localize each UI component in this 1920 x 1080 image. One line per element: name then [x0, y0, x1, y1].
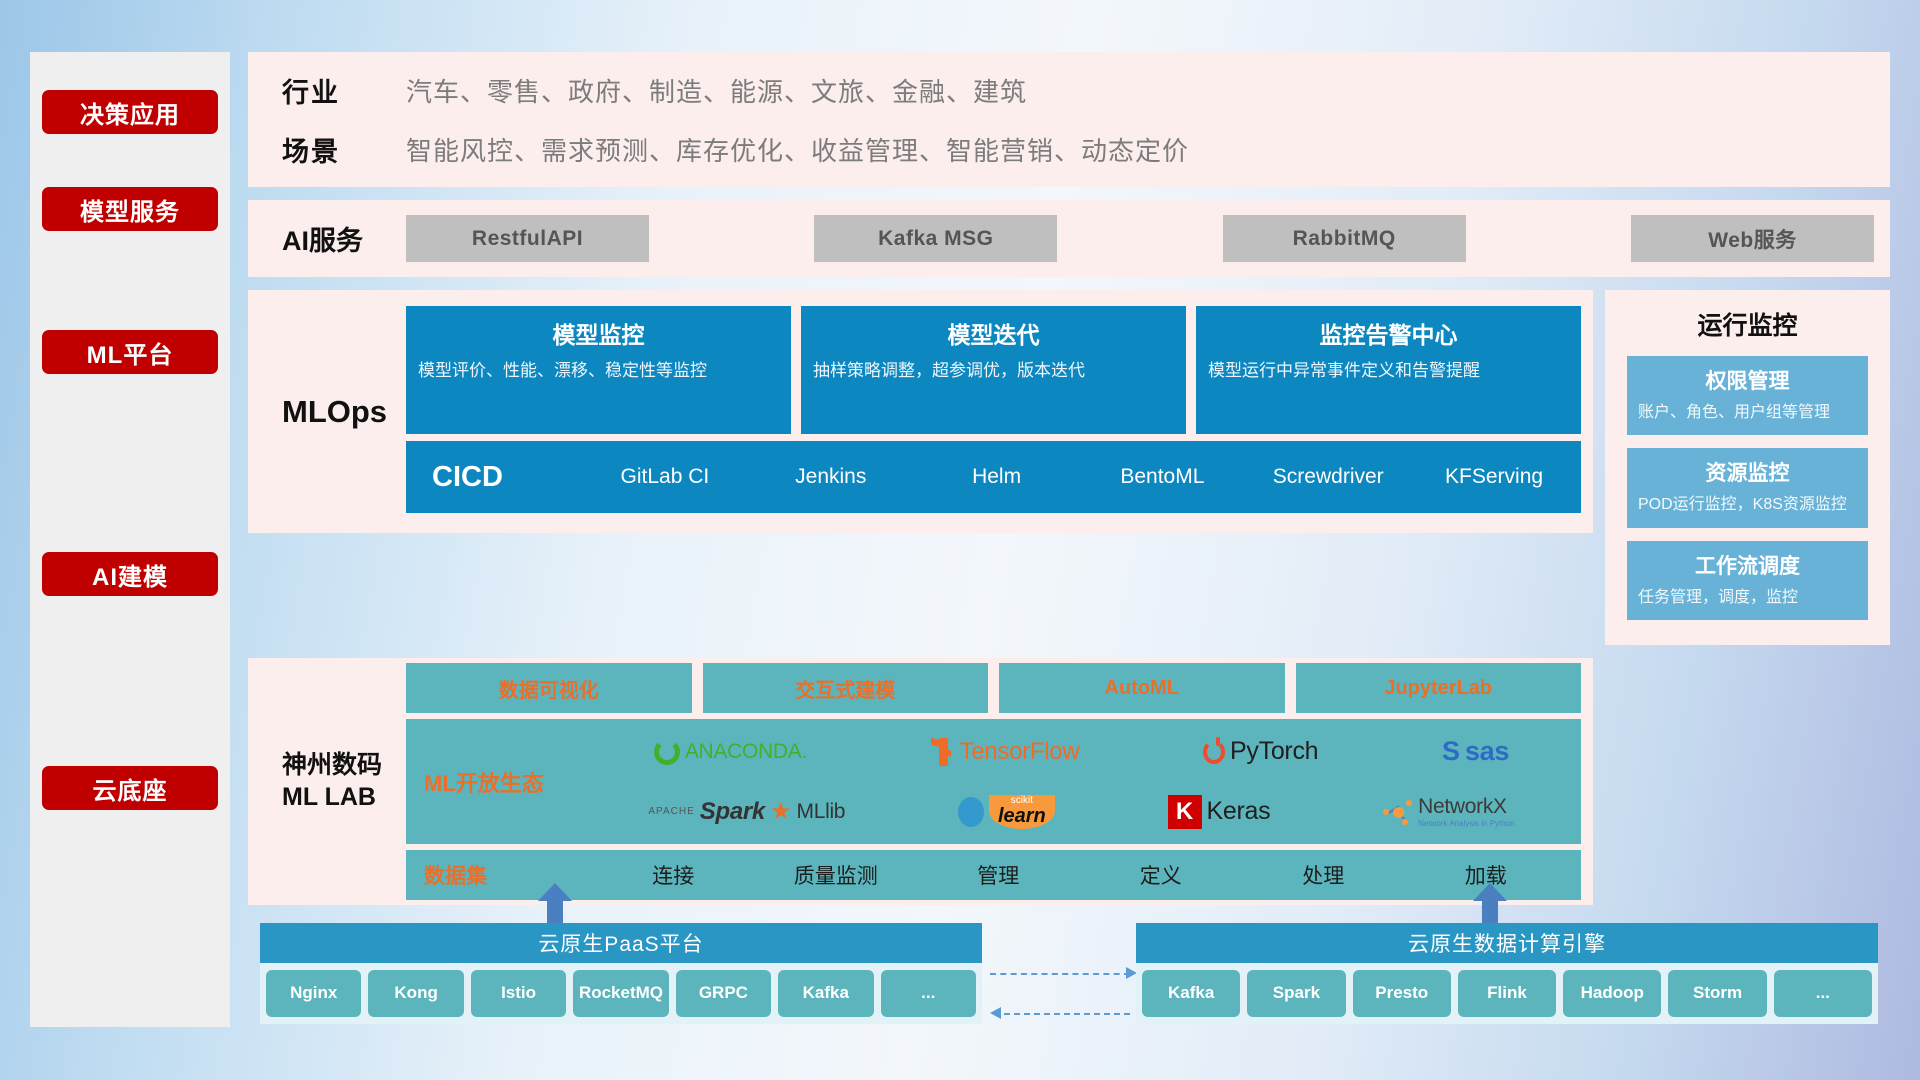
- monitor-card-resource[interactable]: 资源监控 POD运行监控，K8S资源监控: [1627, 448, 1868, 527]
- monitor-card-title: 资源监控: [1638, 457, 1857, 487]
- cicd-title: CICD: [432, 461, 582, 494]
- paas-chip-kong[interactable]: Kong: [368, 970, 463, 1017]
- data-chip-presto[interactable]: Presto: [1353, 970, 1451, 1017]
- data-chip-kafka[interactable]: Kafka: [1142, 970, 1240, 1017]
- spark-label: Spark: [700, 798, 765, 826]
- rail-chip-label: 云底座: [93, 771, 168, 806]
- data-chip-spark[interactable]: Spark: [1247, 970, 1345, 1017]
- tool-box-automl[interactable]: AutoML: [999, 663, 1285, 713]
- rail-chip-cloud-base[interactable]: 云底座: [42, 766, 218, 810]
- cicd-item-jenkins[interactable]: Jenkins: [748, 465, 914, 489]
- runtime-monitoring-column: 运行监控 权限管理 账户、角色、用户组等管理 资源监控 POD运行监控，K8S资…: [1605, 290, 1890, 645]
- dashed-connector-bottom: [1004, 1013, 1130, 1015]
- sas-logo: S sas: [1442, 736, 1509, 767]
- service-box-label: Web服务: [1708, 224, 1796, 254]
- mlops-card-title: 模型迭代: [813, 316, 1174, 350]
- data-chip-hadoop[interactable]: Hadoop: [1563, 970, 1661, 1017]
- tensorflow-label: TensorFlow: [960, 738, 1080, 766]
- mlops-card-title: 模型监控: [418, 316, 779, 350]
- scenario-values: 智能风控、需求预测、库存优化、收益管理、智能营销、动态定价: [406, 131, 1189, 168]
- service-box-restfulapi[interactable]: RestfulAPI: [406, 215, 649, 262]
- pytorch-logo: PyTorch: [1203, 737, 1318, 766]
- cloud-paas-title: 云原生PaaS平台: [260, 923, 982, 963]
- scikit-learn-logo: scikit learn: [958, 795, 1055, 829]
- learn-label: learn: [998, 806, 1046, 826]
- monitor-card-workflow[interactable]: 工作流调度 任务管理，调度，监控: [1627, 541, 1868, 620]
- architecture-main: 行业 汽车、零售、政府、制造、能源、文旅、金融、建筑 场景 智能风控、需求预测、…: [248, 52, 1890, 905]
- mlops-card-desc: 抽样策略调整，超参调优，版本迭代: [813, 359, 1174, 382]
- service-box-web-service[interactable]: Web服务: [1631, 215, 1874, 262]
- paas-chip-grpc[interactable]: GRPC: [676, 970, 771, 1017]
- mlops-label: MLOps: [282, 394, 406, 430]
- industry-row: 行业 汽车、零售、政府、制造、能源、文旅、金融、建筑: [282, 71, 1890, 110]
- pytorch-label: PyTorch: [1230, 737, 1318, 766]
- mlops-card-model-monitoring[interactable]: 模型监控 模型评价、性能、漂移、稳定性等监控: [406, 306, 791, 434]
- anaconda-label: ANACONDA.: [685, 740, 807, 764]
- networkx-sublabel: Network Analysis in Python: [1418, 819, 1515, 828]
- mlops-card-desc: 模型评价、性能、漂移、稳定性等监控: [418, 359, 779, 382]
- dataset-item-process[interactable]: 处理: [1242, 860, 1405, 890]
- spark-star-icon: ★: [770, 797, 792, 826]
- cloud-native-data-engine-group: 云原生数据计算引擎 Kafka Spark Presto Flink Hadoo…: [1136, 923, 1878, 1024]
- tool-box-jupyterlab[interactable]: JupyterLab: [1296, 663, 1582, 713]
- keras-label: Keras: [1207, 797, 1271, 826]
- paas-chip-rocketmq[interactable]: RocketMQ: [573, 970, 668, 1017]
- monitor-card-permission[interactable]: 权限管理 账户、角色、用户组等管理: [1627, 356, 1868, 435]
- cicd-item-gitlab-ci[interactable]: GitLab CI: [582, 465, 748, 489]
- cloud-foundation-row: 云原生PaaS平台 Nginx Kong Istio RocketMQ GRPC…: [248, 905, 1890, 1045]
- paas-chip-more[interactable]: ...: [881, 970, 976, 1017]
- monitor-card-desc: 账户、角色、用户组等管理: [1638, 402, 1857, 424]
- data-chip-storm[interactable]: Storm: [1668, 970, 1766, 1017]
- monitor-card-desc: POD运行监控，K8S资源监控: [1638, 494, 1857, 516]
- service-box-label: Kafka MSG: [878, 227, 993, 251]
- tensorflow-mark-icon: [931, 738, 955, 766]
- modeling-tool-row: 数据可视化 交互式建模 AutoML JupyterLab: [406, 663, 1581, 713]
- dataset-item-manage[interactable]: 管理: [917, 860, 1080, 890]
- dashed-connector-top: [990, 973, 1130, 975]
- arrow-up-data-engine-icon: [1473, 883, 1507, 923]
- cicd-item-bentoml[interactable]: BentoML: [1079, 465, 1245, 489]
- keras-logo: K Keras: [1168, 795, 1271, 829]
- mlops-card-model-iteration[interactable]: 模型迭代 抽样策略调整，超参调优，版本迭代: [801, 306, 1186, 434]
- rail-chip-label: 模型服务: [80, 192, 180, 227]
- dataset-item-define[interactable]: 定义: [1080, 860, 1243, 890]
- ai-service-band: AI服务 RestfulAPI Kafka MSG RabbitMQ Web服务: [248, 200, 1890, 277]
- scikit-blob-icon: [958, 797, 984, 827]
- cicd-item-kfserving[interactable]: KFServing: [1411, 465, 1577, 489]
- scikit-learn-mark: scikit learn: [989, 795, 1055, 829]
- cicd-item-screwdriver[interactable]: Screwdriver: [1245, 465, 1411, 489]
- ai-modeling-band: 神州数码 ML LAB 数据可视化 交互式建模 AutoML JupyterLa…: [248, 658, 1593, 905]
- rail-chip-label: AI建模: [92, 557, 168, 592]
- networkx-graph-icon: [1383, 798, 1413, 826]
- ai-service-label: AI服务: [282, 219, 406, 258]
- spark-apache-label: APACHE: [648, 806, 694, 817]
- anaconda-ring-icon: [654, 739, 680, 765]
- rail-chip-label: ML平台: [87, 335, 174, 370]
- ml-platform-row: MLOps 模型监控 模型评价、性能、漂移、稳定性等监控 模型迭代 抽样策略调整…: [248, 290, 1890, 645]
- industry-label: 行业: [282, 71, 406, 110]
- cicd-bar: CICD GitLab CI Jenkins Helm BentoML Scre…: [406, 441, 1581, 513]
- tool-box-interactive-modeling[interactable]: 交互式建模: [703, 663, 989, 713]
- cicd-item-helm[interactable]: Helm: [914, 465, 1080, 489]
- spark-mllib-logo: APACHE Spark ★ MLlib: [648, 797, 845, 826]
- service-box-label: RabbitMQ: [1293, 227, 1396, 251]
- mlops-card-desc: 模型运行中异常事件定义和告警提醒: [1208, 359, 1569, 382]
- dataset-item-connect[interactable]: 连接: [592, 860, 755, 890]
- ml-lab-label: 神州数码 ML LAB: [282, 750, 406, 813]
- monitor-card-desc: 任务管理，调度，监控: [1638, 587, 1857, 609]
- arrow-up-paas-icon: [538, 883, 572, 923]
- rail-chip-label: 决策应用: [80, 95, 180, 130]
- monitor-card-title: 权限管理: [1638, 365, 1857, 395]
- ml-open-ecosystem-label: ML开放生态: [424, 766, 592, 798]
- stack-layer-rail: 决策应用 模型服务 ML平台 AI建模 云底座: [30, 52, 230, 1027]
- mlops-card-alert-center[interactable]: 监控告警中心 模型运行中异常事件定义和告警提醒: [1196, 306, 1581, 434]
- ml-open-ecosystem-row: ML开放生态 ANACONDA.: [406, 719, 1581, 844]
- networkx-logo: NetworkX Network Analysis in Python: [1383, 795, 1515, 828]
- keras-mark-icon: K: [1168, 795, 1202, 829]
- rail-chip-model-service[interactable]: 模型服务: [42, 187, 218, 231]
- data-chip-more[interactable]: ...: [1774, 970, 1872, 1017]
- anaconda-logo: ANACONDA.: [654, 739, 807, 765]
- rail-chip-ai-modeling[interactable]: AI建模: [42, 552, 218, 596]
- sas-label: sas: [1465, 736, 1509, 767]
- runtime-monitoring-title: 运行监控: [1627, 306, 1868, 342]
- paas-chip-kafka[interactable]: Kafka: [778, 970, 873, 1017]
- paas-chip-istio[interactable]: Istio: [471, 970, 566, 1017]
- tool-box-data-visualization[interactable]: 数据可视化: [406, 663, 692, 713]
- sas-swirl-icon: S: [1442, 736, 1460, 767]
- monitor-card-title: 工作流调度: [1638, 550, 1857, 580]
- data-chip-flink[interactable]: Flink: [1458, 970, 1556, 1017]
- mlops-band: MLOps 模型监控 模型评价、性能、漂移、稳定性等监控 模型迭代 抽样策略调整…: [248, 290, 1593, 533]
- paas-chip-nginx[interactable]: Nginx: [266, 970, 361, 1017]
- mlops-card-title: 监控告警中心: [1208, 316, 1569, 350]
- networkx-label: NetworkX: [1418, 795, 1515, 819]
- rail-chip-decision-apps[interactable]: 决策应用: [42, 90, 218, 134]
- decision-apps-band: 行业 汽车、零售、政府、制造、能源、文旅、金融、建筑 场景 智能风控、需求预测、…: [248, 52, 1890, 187]
- service-box-kafka-msg[interactable]: Kafka MSG: [814, 215, 1057, 262]
- pytorch-flame-icon: [1203, 740, 1225, 764]
- ml-lab-label-line1: 神州数码: [282, 750, 406, 781]
- service-box-rabbitmq[interactable]: RabbitMQ: [1223, 215, 1466, 262]
- rail-chip-ml-platform[interactable]: ML平台: [42, 330, 218, 374]
- cloud-data-engine-title: 云原生数据计算引擎: [1136, 923, 1878, 963]
- mllib-label: MLlib: [797, 800, 846, 824]
- cloud-native-paas-group: 云原生PaaS平台 Nginx Kong Istio RocketMQ GRPC…: [260, 923, 982, 1024]
- service-box-label: RestfulAPI: [472, 227, 583, 251]
- industry-values: 汽车、零售、政府、制造、能源、文旅、金融、建筑: [406, 72, 1027, 109]
- scenario-row: 场景 智能风控、需求预测、库存优化、收益管理、智能营销、动态定价: [282, 130, 1890, 169]
- keras-letter: K: [1176, 798, 1193, 826]
- scenario-label: 场景: [282, 130, 406, 169]
- dataset-item-quality-monitoring[interactable]: 质量监测: [755, 860, 918, 890]
- tensorflow-logo: TensorFlow: [931, 738, 1080, 766]
- dataset-row: 数据集 连接 质量监测 管理 定义 处理 加载: [406, 850, 1581, 900]
- dashed-arrow-left-icon: [990, 1007, 1001, 1019]
- ecosystem-logo-line-1: ANACONDA. TensorFlow PyT: [592, 723, 1571, 781]
- ecosystem-logo-line-2: APACHE Spark ★ MLlib scikit learn: [592, 783, 1571, 841]
- ml-lab-label-line2: ML LAB: [282, 782, 406, 813]
